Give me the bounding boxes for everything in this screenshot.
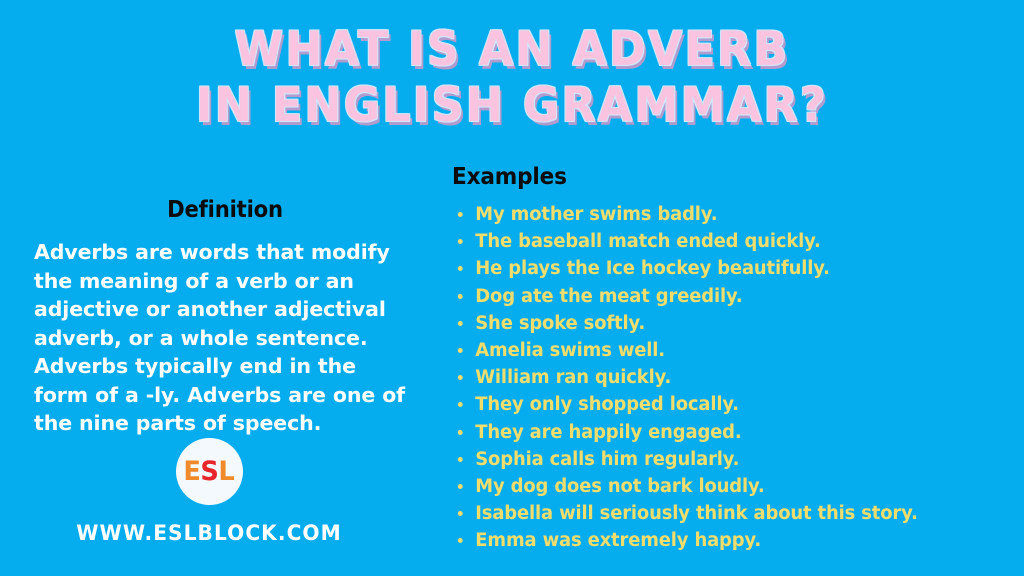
page-title: WHAT IS AN ADVERB IN ENGLISH GRAMMAR? <box>0 22 1024 134</box>
list-item: They only shopped locally. <box>452 391 995 418</box>
definition-heading: Definition <box>49 196 400 224</box>
logo-letter-l: L <box>219 456 235 487</box>
list-item: Dog ate the meat greedily. <box>452 283 995 310</box>
list-item: They are happily engaged. <box>452 419 995 446</box>
logo-letter-s: S <box>201 456 219 487</box>
brand-section: ESL WWW.ESLBLOCK.COM <box>34 438 384 545</box>
list-item: My dog does not bark loudly. <box>452 473 995 500</box>
title-line-1: WHAT IS AN ADVERB <box>31 22 994 78</box>
esl-logo: ESL <box>176 438 243 505</box>
examples-section: Examples My mother swims badly. The base… <box>452 163 1012 555</box>
logo-letter-e: E <box>184 456 201 487</box>
website-url: WWW.ESLBLOCK.COM <box>41 521 377 545</box>
examples-heading: Examples <box>452 163 978 191</box>
definition-body-text: Adverbs are words that modify the meanin… <box>34 238 416 438</box>
list-item: She spoke softly. <box>452 310 995 337</box>
list-item: Isabella will seriously think about this… <box>452 500 995 527</box>
infographic-canvas: WHAT IS AN ADVERB IN ENGLISH GRAMMAR? De… <box>0 0 1024 576</box>
examples-list: My mother swims badly. The baseball matc… <box>452 201 1012 555</box>
list-item: The baseball match ended quickly. <box>452 228 995 255</box>
list-item: He plays the Ice hockey beautifully. <box>452 255 995 282</box>
logo-wordmark: ESL <box>184 458 235 485</box>
title-line-2: IN ENGLISH GRAMMAR? <box>31 78 994 134</box>
definition-section: Definition Adverbs are words that modify… <box>34 196 416 438</box>
list-item: Emma was extremely happy. <box>452 527 995 554</box>
list-item: William ran quickly. <box>452 364 995 391</box>
list-item: My mother swims badly. <box>452 201 995 228</box>
list-item: Amelia swims well. <box>452 337 995 364</box>
list-item: Sophia calls him regularly. <box>452 446 995 473</box>
